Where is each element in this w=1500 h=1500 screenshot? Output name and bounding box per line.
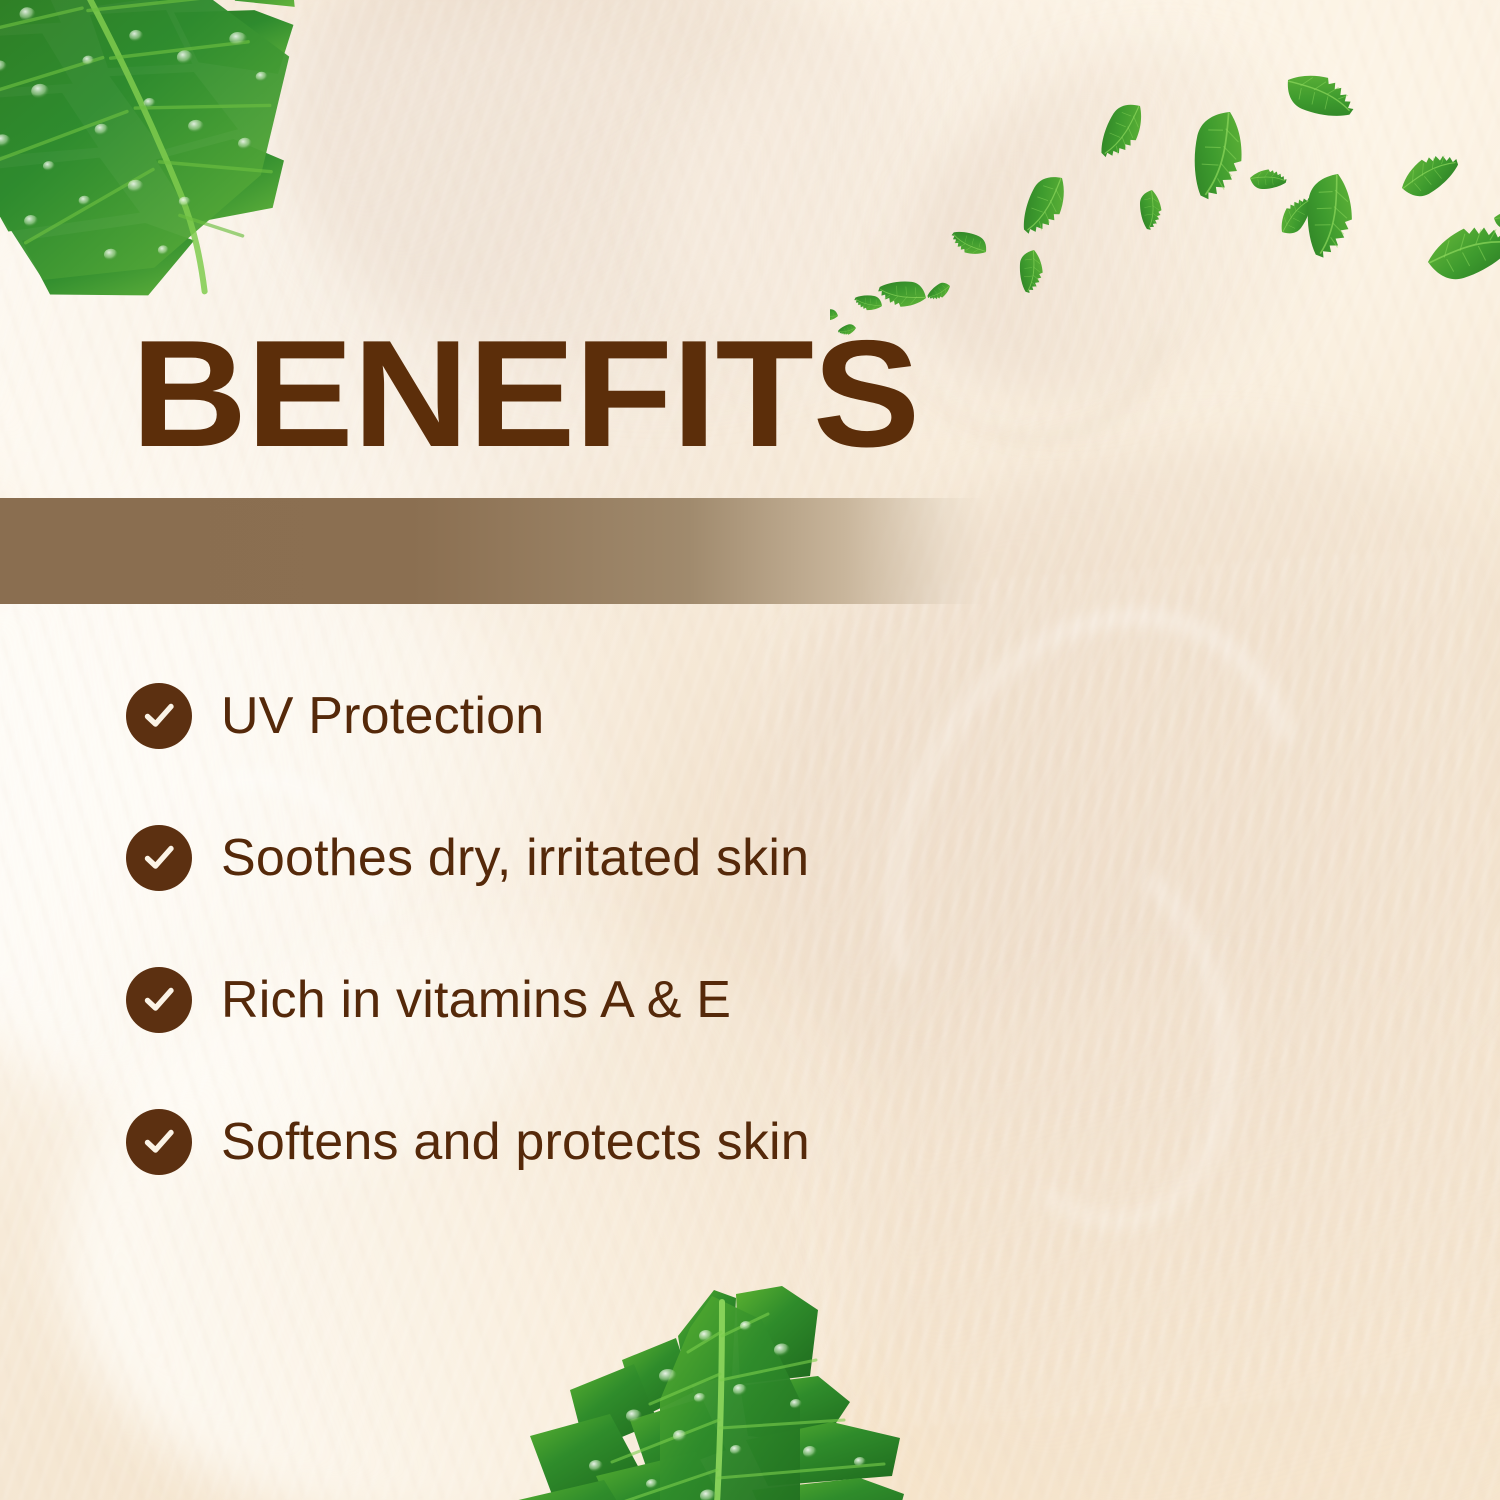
divider-bar bbox=[0, 498, 984, 604]
benefit-label: Softens and protects skin bbox=[221, 1116, 810, 1168]
benefits-list: UV ProtectionSoothes dry, irritated skin… bbox=[126, 680, 1126, 1178]
benefit-label: UV Protection bbox=[221, 690, 544, 742]
page-title: BENEFITS bbox=[131, 318, 919, 470]
monstera-leaf-icon bbox=[500, 1280, 920, 1500]
check-circle-icon bbox=[126, 825, 192, 891]
monstera-leaf-icon bbox=[0, 0, 347, 329]
benefit-item: Rich in vitamins A & E bbox=[126, 964, 1126, 1036]
benefit-label: Rich in vitamins A & E bbox=[221, 974, 731, 1026]
check-circle-icon bbox=[126, 1109, 192, 1175]
check-circle-icon bbox=[126, 967, 192, 1033]
benefit-item: UV Protection bbox=[126, 680, 1126, 752]
benefit-label: Soothes dry, irritated skin bbox=[221, 832, 809, 884]
check-circle-icon bbox=[126, 683, 192, 749]
benefits-poster: BENEFITS UV ProtectionSoothes dry, irrit… bbox=[0, 0, 1500, 1500]
benefit-item: Softens and protects skin bbox=[126, 1106, 1126, 1178]
benefit-item: Soothes dry, irritated skin bbox=[126, 822, 1126, 894]
